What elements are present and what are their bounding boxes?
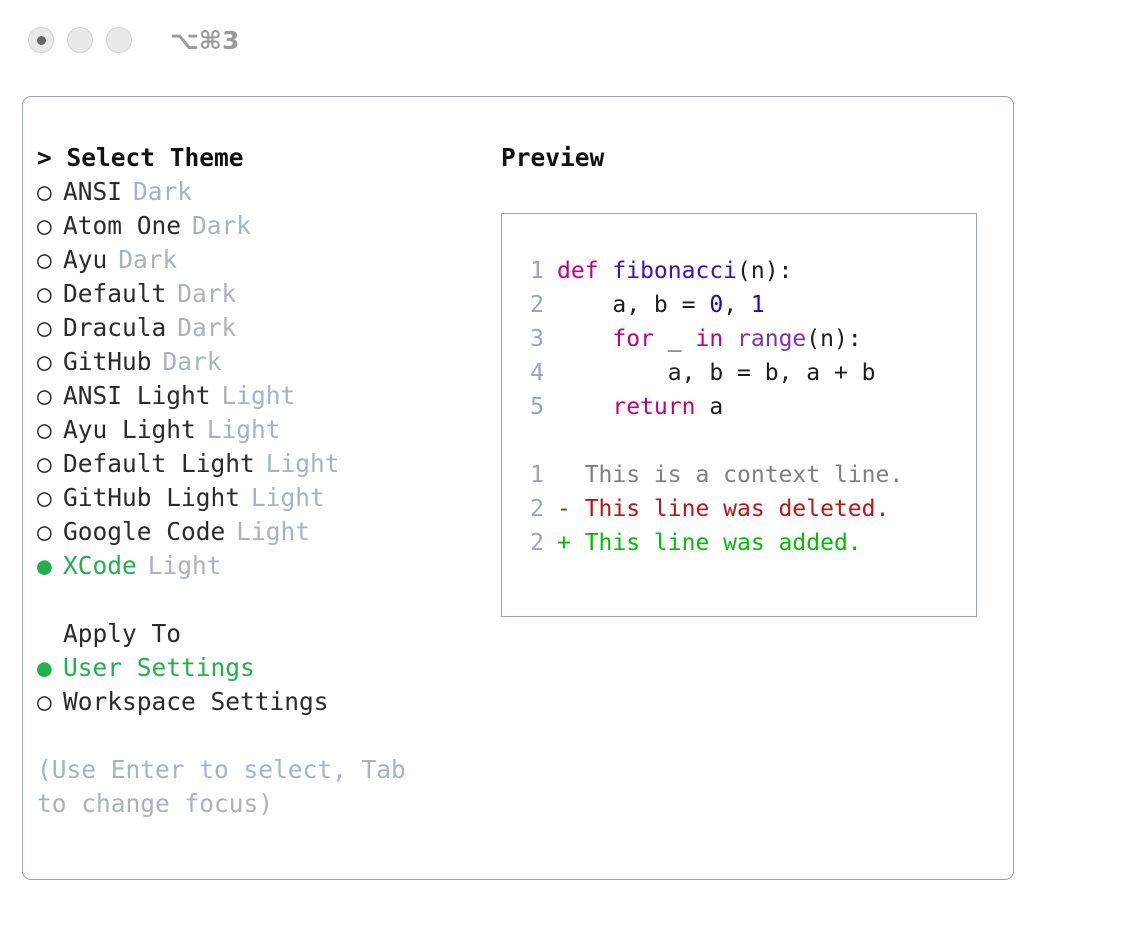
diff-line: 1 This is a context line. (514, 458, 976, 492)
theme-item-badge: Dark (192, 209, 251, 243)
theme-item-label: Atom One (63, 209, 181, 243)
preview-title: Preview (501, 141, 991, 175)
code-text: return a (557, 390, 723, 424)
diff-text: + This line was added. (557, 526, 862, 560)
code-token: This is a context line. (557, 462, 903, 488)
theme-item-dracula[interactable]: ○DraculaDark (37, 311, 467, 345)
window-button-2[interactable] (67, 27, 93, 53)
page-title-prefix: > (37, 143, 52, 172)
code-token: 1 (751, 292, 765, 318)
apply-to-item-label: User Settings (63, 651, 255, 685)
diff-sample: 1 This is a context line.2- This line wa… (514, 458, 976, 560)
theme-item-badge: Dark (177, 277, 236, 311)
apply-to-list: ●User Settings○Workspace Settings (37, 651, 467, 719)
theme-item-badge: Dark (163, 345, 222, 379)
code-token: for (612, 326, 654, 352)
window-controls (28, 27, 132, 53)
theme-item-label: ANSI Light (63, 379, 211, 413)
radio-selected-icon[interactable]: ● (37, 549, 63, 583)
code-token (723, 326, 737, 352)
theme-item-badge: Dark (133, 175, 192, 209)
titlebar: ⌥⌘3 (0, 0, 1140, 80)
theme-item-google-code[interactable]: ○Google CodeLight (37, 515, 467, 549)
theme-item-label: GitHub (63, 345, 152, 379)
theme-item-badge: Light (266, 447, 340, 481)
code-line: 3 for _ in range(n): (514, 322, 976, 356)
diff-text: This is a context line. (557, 458, 903, 492)
code-token (557, 326, 612, 352)
code-token: return (612, 394, 695, 420)
radio-unselected-icon[interactable]: ○ (37, 685, 63, 719)
theme-item-ansi-light[interactable]: ○ANSI LightLight (37, 379, 467, 413)
code-text: a, b = 0, 1 (557, 288, 765, 322)
code-sample: 1def fibonacci(n):2 a, b = 0, 13 for _ i… (514, 254, 976, 424)
theme-item-ansi[interactable]: ○ANSIDark (37, 175, 467, 209)
theme-item-github-light[interactable]: ○GitHub LightLight (37, 481, 467, 515)
theme-item-badge: Dark (118, 243, 177, 277)
code-token: a, b = (557, 292, 709, 318)
code-text: for _ in range(n): (557, 322, 862, 356)
radio-unselected-icon[interactable]: ○ (37, 447, 63, 481)
keyboard-shortcut-label: ⌥⌘3 (170, 26, 239, 55)
code-token: (n): (806, 326, 861, 352)
theme-item-badge: Light (148, 549, 222, 583)
page-title: > Select Theme (37, 141, 467, 175)
radio-unselected-icon[interactable]: ○ (37, 481, 63, 515)
radio-unselected-icon[interactable]: ○ (37, 209, 63, 243)
spacer (37, 583, 467, 617)
code-token (557, 394, 612, 420)
code-token: a, b = b, a + b (557, 360, 876, 386)
line-number: 2 (514, 526, 544, 560)
theme-item-label: Default (63, 277, 166, 311)
apply-to-heading-marker: ○ (37, 617, 63, 651)
page-title-text: Select Theme (67, 143, 244, 172)
window-button-3[interactable] (106, 27, 132, 53)
code-token: in (695, 326, 723, 352)
theme-item-label: Google Code (63, 515, 225, 549)
line-number: 1 (514, 254, 544, 288)
theme-item-label: Ayu (63, 243, 107, 277)
theme-item-xcode[interactable]: ●XCodeLight (37, 549, 467, 583)
code-text: def fibonacci(n): (557, 254, 792, 288)
diff-text: - This line was deleted. (557, 492, 889, 526)
theme-selection-panel: > Select Theme ○ANSIDark○Atom OneDark○Ay… (37, 141, 467, 821)
radio-unselected-icon[interactable]: ○ (37, 277, 63, 311)
apply-to-heading: Apply To (63, 617, 181, 651)
theme-item-label: GitHub Light (63, 481, 240, 515)
window-button-1-dot (37, 36, 46, 45)
theme-item-label: XCode (63, 549, 137, 583)
radio-unselected-icon[interactable]: ○ (37, 515, 63, 549)
theme-item-label: Default Light (63, 447, 255, 481)
theme-item-ayu[interactable]: ○AyuDark (37, 243, 467, 277)
apply-to-heading-row: ○ Apply To (37, 617, 467, 651)
code-token: 0 (709, 292, 723, 318)
preview-box: 1def fibonacci(n):2 a, b = 0, 13 for _ i… (501, 213, 977, 617)
theme-item-default[interactable]: ○DefaultDark (37, 277, 467, 311)
theme-list: ○ANSIDark○Atom OneDark○AyuDark○DefaultDa… (37, 175, 467, 583)
preview-panel: Preview 1def fibonacci(n):2 a, b = 0, 13… (501, 141, 991, 617)
help-hint: (Use Enter to select, Tab to change focu… (37, 753, 437, 821)
apply-to-item-workspace-settings[interactable]: ○Workspace Settings (37, 685, 467, 719)
code-line: 5 return a (514, 390, 976, 424)
radio-selected-icon[interactable]: ● (37, 651, 63, 685)
main-window: > Select Theme ○ANSIDark○Atom OneDark○Ay… (22, 96, 1014, 880)
code-line: 4 a, b = b, a + b (514, 356, 976, 390)
line-number: 1 (514, 458, 544, 492)
theme-item-default-light[interactable]: ○Default LightLight (37, 447, 467, 481)
code-token: range (737, 326, 806, 352)
theme-item-atom-one[interactable]: ○Atom OneDark (37, 209, 467, 243)
theme-item-badge: Light (251, 481, 325, 515)
diff-line: 2- This line was deleted. (514, 492, 976, 526)
code-token: _ (654, 326, 696, 352)
theme-item-badge: Light (236, 515, 310, 549)
code-spacer (514, 424, 976, 458)
line-number: 5 (514, 390, 544, 424)
code-line: 1def fibonacci(n): (514, 254, 976, 288)
code-token: a (695, 394, 723, 420)
code-token: fibonacci (612, 258, 737, 284)
theme-item-badge: Light (207, 413, 281, 447)
window-button-1[interactable] (28, 27, 54, 53)
radio-unselected-icon[interactable]: ○ (37, 379, 63, 413)
radio-unselected-icon[interactable]: ○ (37, 311, 63, 345)
theme-item-badge: Dark (177, 311, 236, 345)
line-number: 2 (514, 288, 544, 322)
theme-item-badge: Light (222, 379, 296, 413)
radio-unselected-icon[interactable]: ○ (37, 175, 63, 209)
code-token: + This line was added. (557, 530, 862, 556)
theme-item-label: ANSI (63, 175, 122, 209)
radio-unselected-icon[interactable]: ○ (37, 413, 63, 447)
line-number: 4 (514, 356, 544, 390)
line-number: 2 (514, 492, 544, 526)
code-text: a, b = b, a + b (557, 356, 876, 390)
code-token: , (723, 292, 751, 318)
radio-unselected-icon[interactable]: ○ (37, 243, 63, 277)
theme-item-label: Dracula (63, 311, 166, 345)
code-token: def (557, 258, 612, 284)
theme-item-ayu-light[interactable]: ○Ayu LightLight (37, 413, 467, 447)
apply-to-item-user-settings[interactable]: ●User Settings (37, 651, 467, 685)
theme-item-github[interactable]: ○GitHubDark (37, 345, 467, 379)
code-line: 2 a, b = 0, 1 (514, 288, 976, 322)
theme-item-label: Ayu Light (63, 413, 196, 447)
radio-unselected-icon[interactable]: ○ (37, 345, 63, 379)
code-token: - This line was deleted. (557, 496, 889, 522)
code-token: (n): (737, 258, 792, 284)
apply-to-item-label: Workspace Settings (63, 685, 329, 719)
diff-line: 2+ This line was added. (514, 526, 976, 560)
line-number: 3 (514, 322, 544, 356)
